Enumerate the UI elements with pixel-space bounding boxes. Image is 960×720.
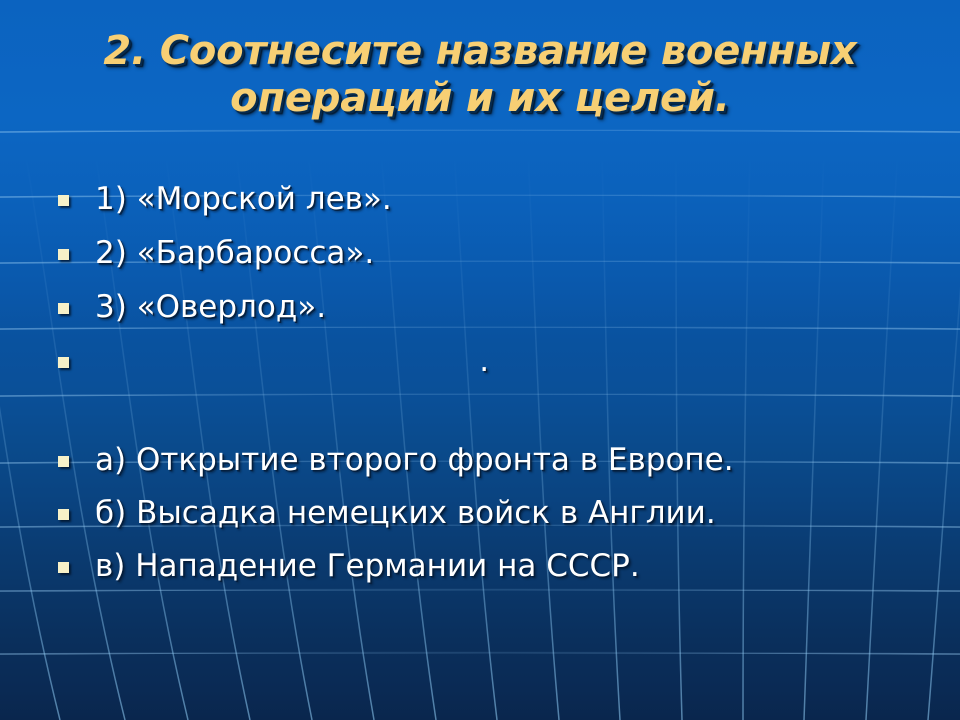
square-bullet-icon: [58, 249, 69, 260]
square-bullet-icon: [58, 509, 69, 520]
square-bullet-icon: [58, 562, 69, 573]
list-item-op-2[interactable]: 2) «Барбаросса».: [58, 231, 374, 275]
slide-body: 1) «Морской лев». 2) «Барбаросса». 3) «О…: [0, 0, 960, 720]
list-item-goal-a[interactable]: а) Открытие второго фронта в Европе.: [58, 438, 734, 482]
list-item-label: б) Высадка немецких войск в Англии.: [95, 496, 716, 530]
list-item-op-4-blank[interactable]: .: [58, 339, 489, 383]
list-item-label: в) Нападение Германии на СССР.: [95, 549, 640, 583]
slide-canvas: 2. Соотнесите название военных операций …: [0, 0, 960, 720]
square-bullet-icon: [58, 303, 69, 314]
list-item-op-1[interactable]: 1) «Морской лев».: [58, 177, 392, 221]
list-item-op-3[interactable]: 3) «Оверлод».: [58, 285, 326, 329]
square-bullet-icon: [58, 357, 69, 368]
list-item-label: 2) «Барбаросса».: [95, 236, 374, 270]
list-item-label: а) Открытие второго фронта в Европе.: [95, 443, 734, 477]
list-item-label: 3) «Оверлод».: [95, 290, 326, 324]
list-item-goal-v[interactable]: в) Нападение Германии на СССР.: [58, 544, 640, 588]
list-item-label: .: [95, 344, 489, 378]
list-item-goal-b[interactable]: б) Высадка немецких войск в Англии.: [58, 491, 716, 535]
square-bullet-icon: [58, 195, 69, 206]
square-bullet-icon: [58, 456, 69, 467]
list-item-label: 1) «Морской лев».: [95, 182, 392, 216]
